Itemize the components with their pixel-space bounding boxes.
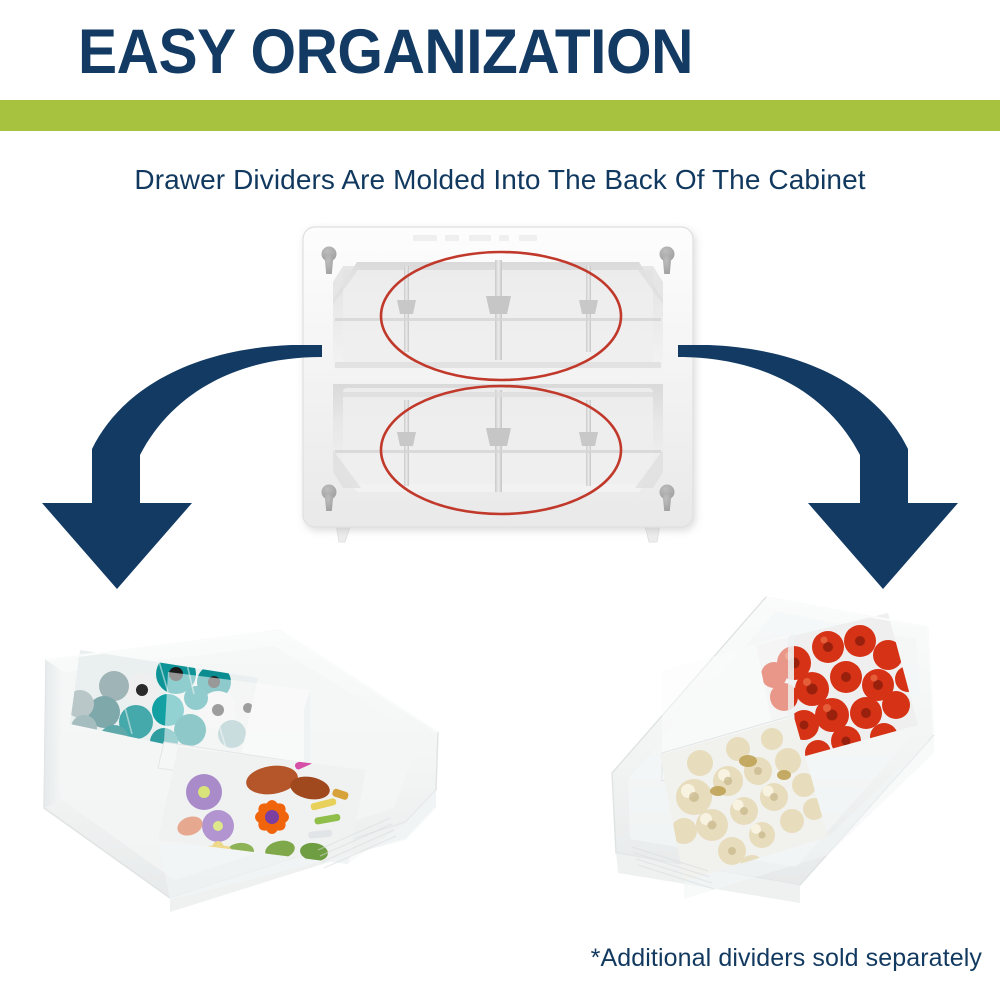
drawer-right-image [588,585,993,945]
curved-arrow-right-icon [668,345,978,595]
infographic-canvas: EASY ORGANIZATION Drawer Dividers Are Mo… [0,0,1000,1000]
footnote-text: *Additional dividers sold separately [591,942,982,974]
page-title: EASY ORGANIZATION [78,18,878,86]
drawer-left-image [18,612,468,917]
drawer-cavity-upper [333,260,663,370]
subtitle: Drawer Dividers Are Molded Into The Back… [0,162,1000,198]
curved-arrow-left-icon [22,345,332,595]
cabinet-back-panel-image [283,222,713,562]
accent-bar [0,100,1000,131]
